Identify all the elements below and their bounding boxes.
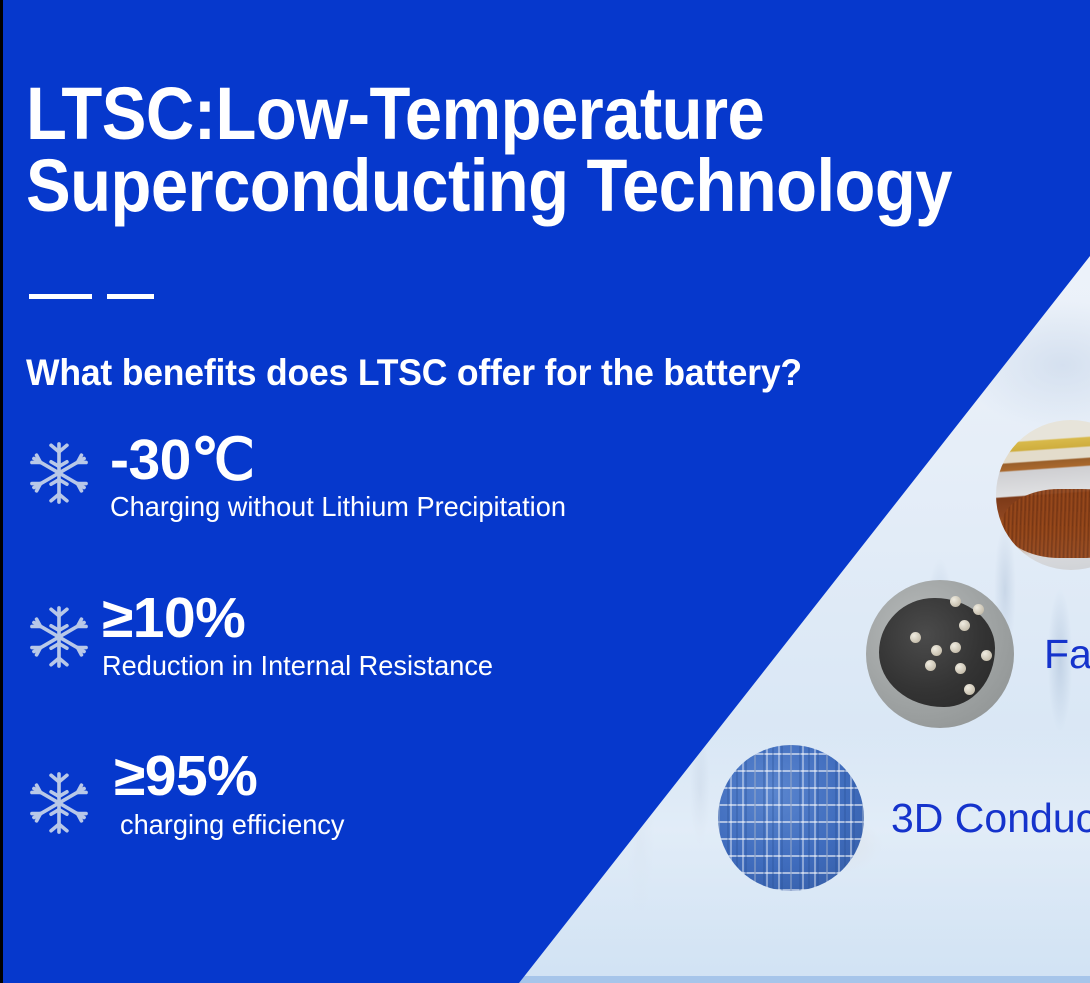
divider-segment-long	[29, 294, 92, 299]
benefit-value: -30℃	[110, 428, 254, 492]
feature-particle-micrograph: Fas	[866, 580, 1090, 728]
feature-label-2: 3D Conduc	[891, 795, 1090, 842]
page-title: LTSC:Low-Temperature Superconducting Tec…	[26, 78, 1040, 222]
snowflake-icon	[26, 770, 92, 836]
feature-3d-network: 3D Conduc	[718, 745, 1090, 891]
particle-micrograph-icon	[866, 580, 1014, 728]
benefit-value: ≥10%	[102, 586, 245, 650]
divider-segment-short	[107, 294, 154, 299]
section-question: What benefits does LTSC offer for the ba…	[26, 352, 802, 394]
benefit-row: ≥95% charging efficiency	[26, 748, 351, 841]
pore-dot	[964, 684, 975, 695]
feature-copper-foil	[996, 420, 1090, 570]
title-divider	[29, 288, 154, 293]
3d-conductive-network-icon	[718, 745, 864, 891]
benefit-label: Reduction in Internal Resistance	[102, 650, 493, 682]
snowflake-icon	[26, 604, 92, 670]
benefit-text: ≥10% Reduction in Internal Resistance	[102, 590, 505, 682]
snowflake-icon	[26, 440, 92, 506]
left-edge-border	[0, 0, 3, 983]
benefit-label: charging efficiency	[120, 809, 344, 841]
pore-dot	[973, 604, 984, 615]
benefit-label: Charging without Lithium Precipitation	[110, 491, 566, 523]
copper-foil-roll-icon	[996, 420, 1090, 570]
benefit-text: ≥95% charging efficiency	[114, 748, 351, 841]
benefit-text: -30℃ Charging without Lithium Precipitat…	[110, 432, 580, 523]
feature-label-1: Fas	[1044, 631, 1090, 678]
benefit-value: ≥95%	[114, 744, 257, 808]
pore-dot	[981, 650, 992, 661]
benefit-row: -30℃ Charging without Lithium Precipitat…	[26, 432, 580, 523]
pore-dot	[955, 663, 966, 674]
benefit-row: ≥10% Reduction in Internal Resistance	[26, 590, 505, 682]
poster-canvas: Fas 3D Conduc LTSC:Low-Temperature Super…	[0, 0, 1090, 983]
